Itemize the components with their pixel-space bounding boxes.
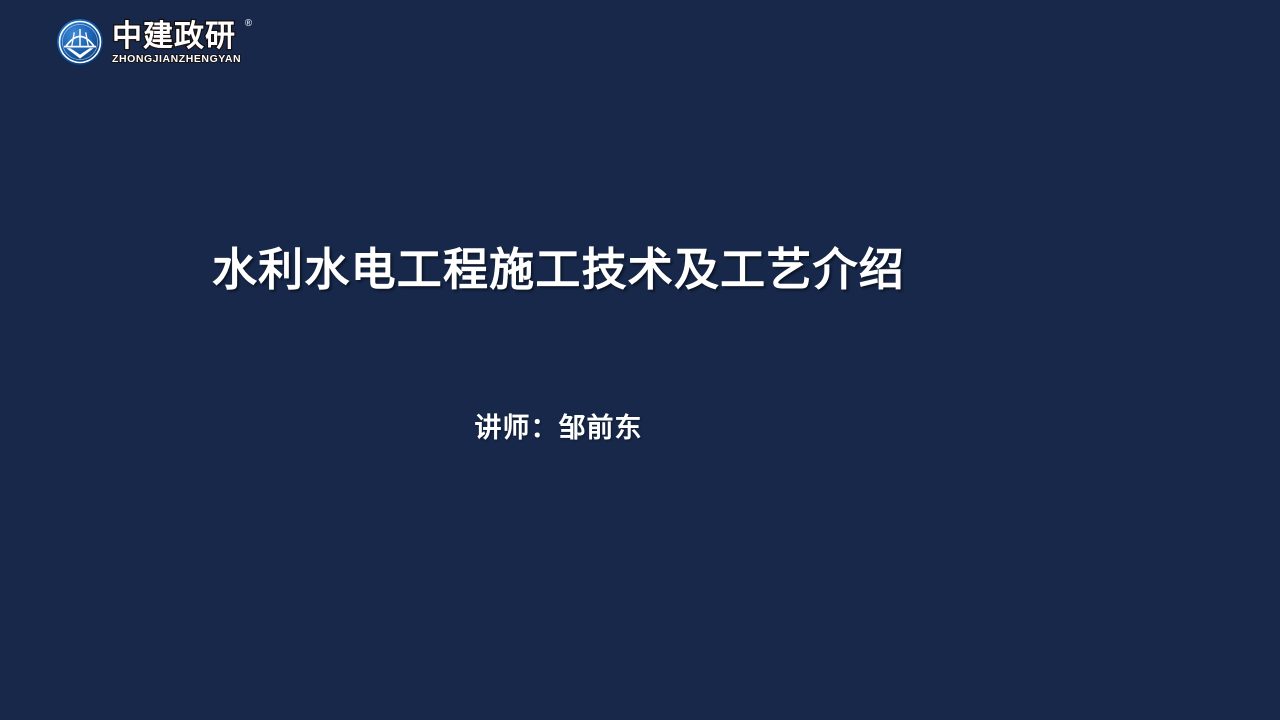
bridge-dam-circle-icon [55,17,105,67]
company-logo: 中建政研 ® ZHONGJIANZHENGYAN [55,13,239,70]
presenter-container: 讲师：邹前东 [0,410,1117,448]
registered-trademark-icon: ® [245,19,252,29]
logo-company-name-cn: 中建政研 [112,21,241,52]
logo-company-name-pinyin: ZHONGJIANZHENGYAN [112,53,241,65]
logo-wordmark: 中建政研 ® ZHONGJIANZHENGYAN [112,19,241,65]
title-container: 水利水电工程施工技术及工艺介绍 [0,241,1117,299]
presenter-name: 讲师：邹前东 [0,410,1117,448]
page-title: 水利水电工程施工技术及工艺介绍 [0,241,1117,299]
title-slide: 中建政研 ® ZHONGJIANZHENGYAN 水利水电工程施工技术及工艺介绍… [0,0,1280,720]
